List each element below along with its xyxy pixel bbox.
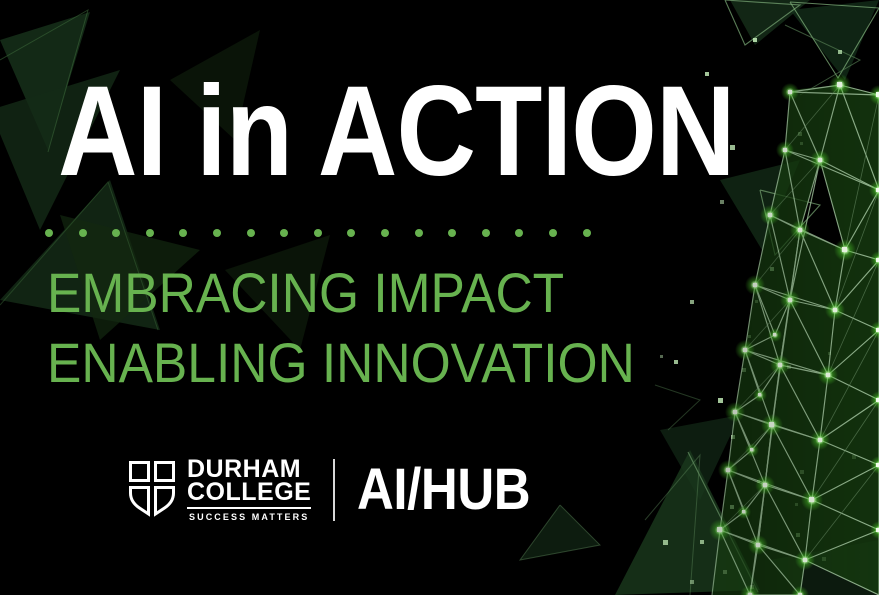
- page-title: AI in ACTION: [58, 68, 735, 196]
- ai-hub-wordmark: AI/HUB: [357, 461, 530, 519]
- durham-college-wordmark: DURHAM COLLEGE SUCCESS MATTERS: [187, 458, 311, 523]
- subtitle-line-2: ENABLING INNOVATION: [47, 328, 635, 398]
- wordmark-rule: [187, 507, 311, 509]
- dotted-divider: [45, 228, 625, 238]
- durham-college-line-2: COLLEGE: [187, 481, 311, 504]
- divider-dot: [482, 229, 490, 237]
- subtitle-line-1: EMBRACING IMPACT: [47, 258, 635, 328]
- divider-dot: [314, 229, 322, 237]
- divider-dot: [381, 229, 389, 237]
- divider-dot: [415, 229, 423, 237]
- durham-college-shield-icon: [129, 461, 175, 519]
- divider-dot: [45, 229, 53, 237]
- poster-canvas: AI in ACTION EMBRACING IMPACT ENABLING I…: [0, 0, 879, 595]
- durham-college-tagline: SUCCESS MATTERS: [187, 512, 311, 523]
- divider-dot: [280, 229, 288, 237]
- logo-divider-rule: [333, 459, 335, 521]
- divider-dot: [549, 229, 557, 237]
- divider-dot: [213, 229, 221, 237]
- divider-dot: [347, 229, 355, 237]
- subtitle: EMBRACING IMPACT ENABLING INNOVATION: [47, 258, 635, 398]
- divider-dot: [583, 229, 591, 237]
- divider-dot: [515, 229, 523, 237]
- divider-dot: [79, 229, 87, 237]
- logo-lockup: DURHAM COLLEGE SUCCESS MATTERS AI/HUB: [129, 456, 554, 524]
- divider-dot: [146, 229, 154, 237]
- divider-dot: [247, 229, 255, 237]
- divider-dot: [448, 229, 456, 237]
- divider-dot: [112, 229, 120, 237]
- divider-dot: [179, 229, 187, 237]
